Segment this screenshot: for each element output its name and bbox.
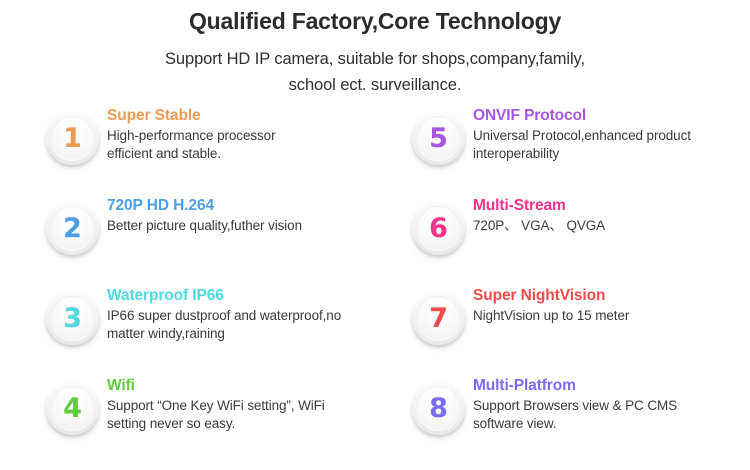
feature-item: 6 Multi-Stream 720P、 VGA、 QVGA [412,196,750,286]
feature-item: 2 720P HD H.264 Better picture quality,f… [46,196,386,286]
promo-banner: Qualified Factory,Core Technology Suppor… [0,0,750,470]
description-line: NightVision up to 15 meter [473,307,750,325]
feature-text: Wifi Support “One Key WiFi setting”, WiF… [107,376,385,432]
feature-description: Support Browsers view & PC CMS software … [473,397,750,432]
number-badge: 3 [46,292,99,345]
feature-heading: ONVIF Protocol [473,106,750,125]
feature-column-right: 5 ONVIF Protocol Universal Protocol,enha… [412,106,750,466]
feature-item: 3 Waterproof IP66 IP66 super dustproof a… [46,286,386,376]
feature-column-left: 1 Super Stable High-performance processo… [46,106,386,466]
feature-heading: Multi-Stream [473,196,750,215]
description-line: setting never so easy. [107,415,385,433]
badge-number: 1 [63,125,82,152]
page-title: Qualified Factory,Core Technology [0,6,750,36]
feature-text: Multi-Stream 720P、 VGA、 QVGA [473,196,750,235]
description-line: Better picture quality,futher vision [107,217,385,235]
feature-grid: 1 Super Stable High-performance processo… [0,106,750,470]
feature-description: IP66 super dustproof and waterproof,no m… [107,307,385,342]
feature-item: 1 Super Stable High-performance processo… [46,106,386,196]
feature-item: 7 Super NightVision NightVision up to 15… [412,286,750,376]
feature-item: 4 Wifi Support “One Key WiFi setting”, W… [46,376,386,466]
description-line: matter windy,raining [107,325,385,343]
feature-description: Universal Protocol,enhanced product inte… [473,127,750,162]
description-line: interoperability [473,145,750,163]
subtitle-line-1: Support HD IP camera, suitable for shops… [0,46,750,72]
description-line: Universal Protocol,enhanced product [473,127,750,145]
number-badge: 2 [46,202,99,255]
feature-description: High-performance processor efficient and… [107,127,385,162]
description-line: Support Browsers view & PC CMS [473,397,750,415]
description-line: High-performance processor [107,127,385,145]
feature-description: 720P、 VGA、 QVGA [473,217,750,235]
feature-item: 5 ONVIF Protocol Universal Protocol,enha… [412,106,750,196]
feature-description: NightVision up to 15 meter [473,307,750,325]
number-badge: 6 [412,202,465,255]
subtitle-line-2: school ect. surveillance. [0,72,750,98]
number-badge: 4 [46,382,99,435]
description-line: 720P、 VGA、 QVGA [473,217,750,235]
number-badge: 8 [412,382,465,435]
feature-heading: 720P HD H.264 [107,196,385,215]
feature-description: Support “One Key WiFi setting”, WiFi set… [107,397,385,432]
feature-text: Super Stable High-performance processor … [107,106,385,162]
description-line: Support “One Key WiFi setting”, WiFi [107,397,385,415]
description-line: software view. [473,415,750,433]
feature-text: 720P HD H.264 Better picture quality,fut… [107,196,385,235]
badge-number: 8 [429,395,448,422]
description-line: IP66 super dustproof and waterproof,no [107,307,385,325]
feature-heading: Waterproof IP66 [107,286,385,305]
feature-text: Multi-Platfrom Support Browsers view & P… [473,376,750,432]
badge-number: 2 [63,215,82,242]
feature-heading: Multi-Platfrom [473,376,750,395]
badge-number: 7 [429,305,448,332]
feature-description: Better picture quality,futher vision [107,217,385,235]
feature-heading: Wifi [107,376,385,395]
number-badge: 7 [412,292,465,345]
feature-text: Super NightVision NightVision up to 15 m… [473,286,750,325]
badge-number: 3 [63,305,82,332]
feature-item: 8 Multi-Platfrom Support Browsers view &… [412,376,750,466]
number-badge: 5 [412,112,465,165]
feature-text: ONVIF Protocol Universal Protocol,enhanc… [473,106,750,162]
description-line: efficient and stable. [107,145,385,163]
feature-heading: Super NightVision [473,286,750,305]
number-badge: 1 [46,112,99,165]
feature-heading: Super Stable [107,106,385,125]
badge-number: 5 [429,125,448,152]
page-subtitle: Support HD IP camera, suitable for shops… [0,46,750,98]
feature-text: Waterproof IP66 IP66 super dustproof and… [107,286,385,342]
badge-number: 6 [429,215,448,242]
badge-number: 4 [63,395,82,422]
banner-header: Qualified Factory,Core Technology Suppor… [0,0,750,98]
